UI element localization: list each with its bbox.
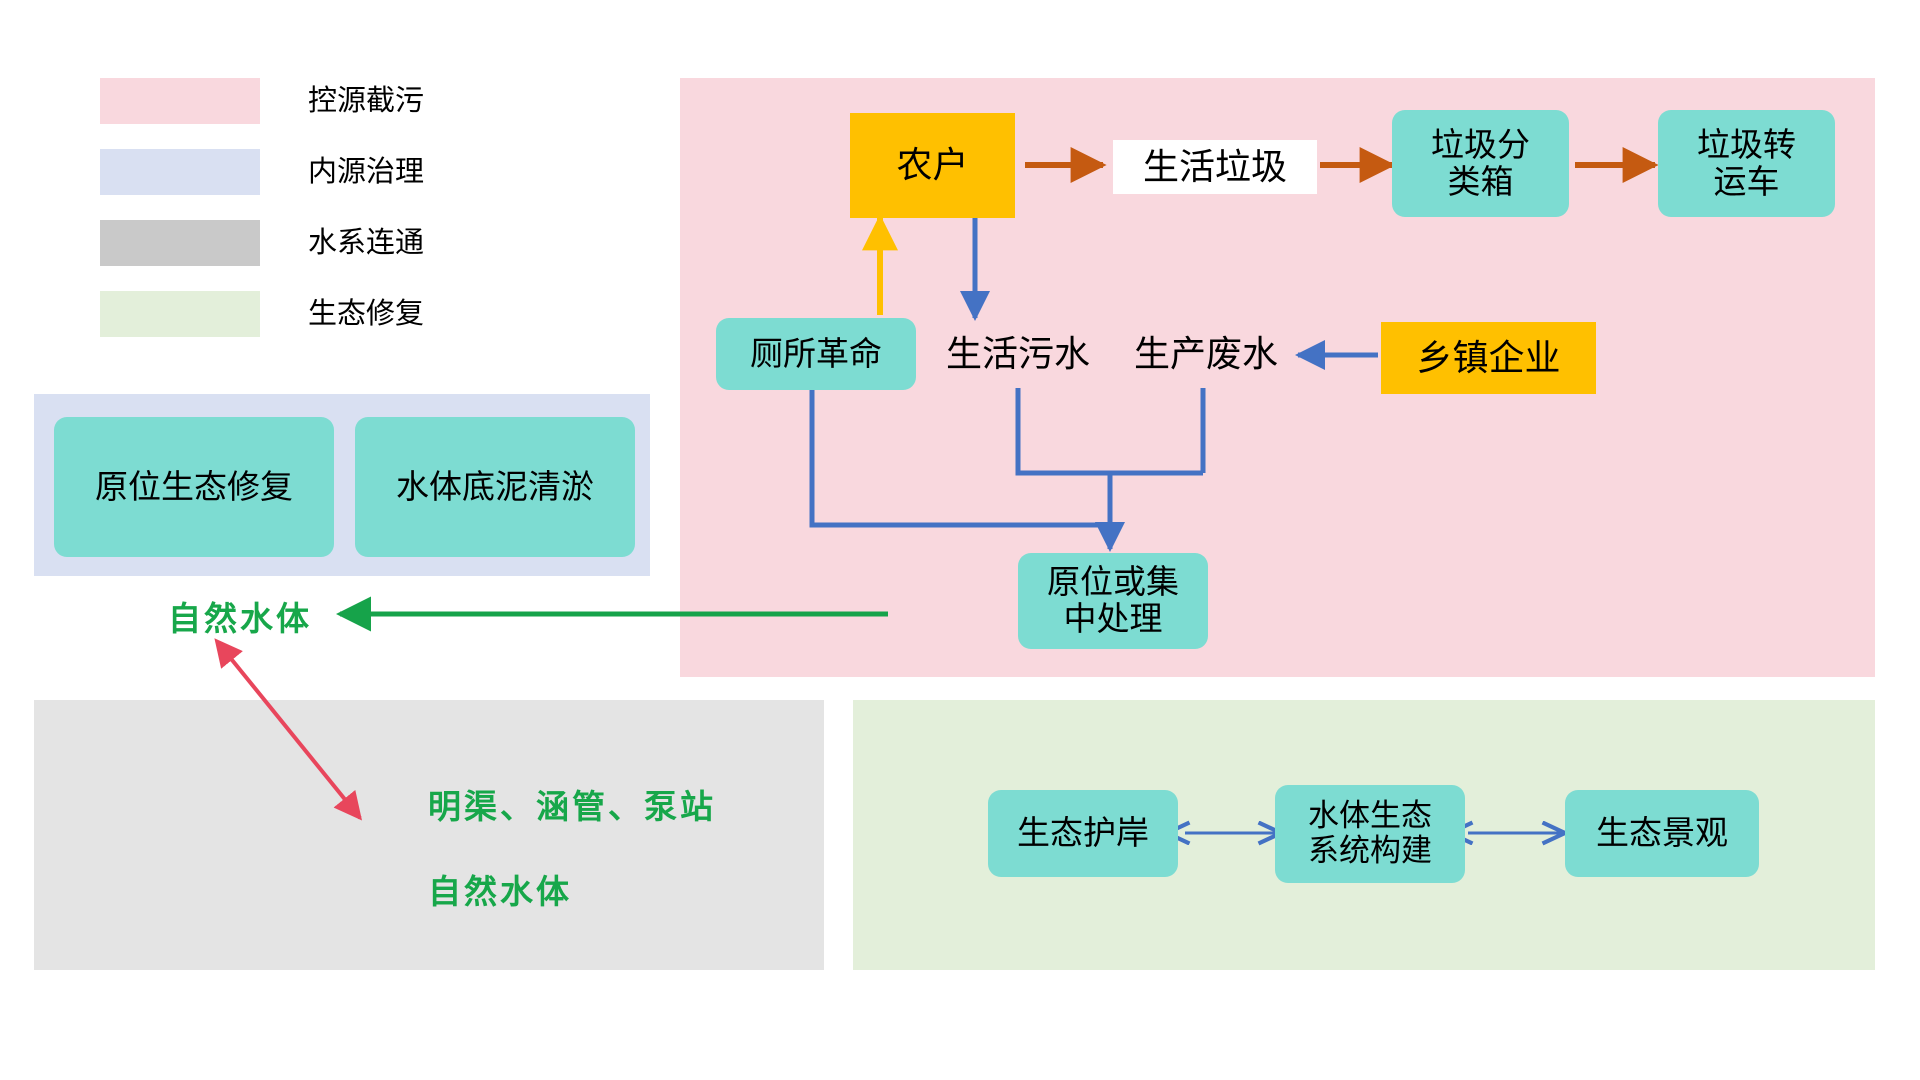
node-eco-system-construction[interactable]: 水体生态 系统构建 [1275,785,1465,883]
label-open-channel-culvert-pump: 明渠、涵管、泵站 [428,780,716,828]
legend-label-water-connectivity: 水系连通 [308,220,424,266]
node-township-enterprise[interactable]: 乡镇企业 [1381,322,1596,394]
legend-item-0: 控源截污 [100,78,580,124]
legend-label-eco-restoration: 生态修复 [308,291,424,337]
node-domestic-waste[interactable]: 生活垃圾 [1113,140,1317,194]
node-domestic-sewage: 生活污水 [930,322,1106,386]
node-toilet-revolution[interactable]: 厕所革命 [716,318,916,390]
legend-swatch-eco-restoration [100,291,260,337]
node-eco-revetment[interactable]: 生态护岸 [988,790,1178,877]
node-sediment-dredging[interactable]: 水体底泥清淤 [355,417,635,557]
legend-label-source-control: 控源截污 [308,78,424,124]
node-eco-landscape[interactable]: 生态景观 [1565,790,1759,877]
node-in-situ-restoration[interactable]: 原位生态修复 [54,417,334,557]
legend-item-1: 内源治理 [100,149,580,195]
legend-swatch-source-control [100,78,260,124]
node-household[interactable]: 农户 [850,113,1015,218]
node-waste-transfer-vehicle[interactable]: 垃圾转 运车 [1658,110,1835,217]
node-industrial-wastewater: 生产废水 [1118,322,1294,386]
diagram-canvas: 控源截污 内源治理 水系连通 生态修复 [0,0,1920,1080]
legend-item-2: 水系连通 [100,220,580,266]
legend-swatch-internal-treatment [100,149,260,195]
node-treatment[interactable]: 原位或集 中处理 [1018,553,1208,649]
legend-swatch-water-connectivity [100,220,260,266]
legend-label-internal-treatment: 内源治理 [308,149,424,195]
node-waste-sorting-bin[interactable]: 垃圾分 类箱 [1392,110,1569,217]
label-natural-water-body-gray: 自然水体 [428,865,572,913]
label-natural-water-body: 自然水体 [168,592,312,640]
panel-water-connectivity [34,700,824,970]
legend-item-3: 生态修复 [100,291,580,337]
